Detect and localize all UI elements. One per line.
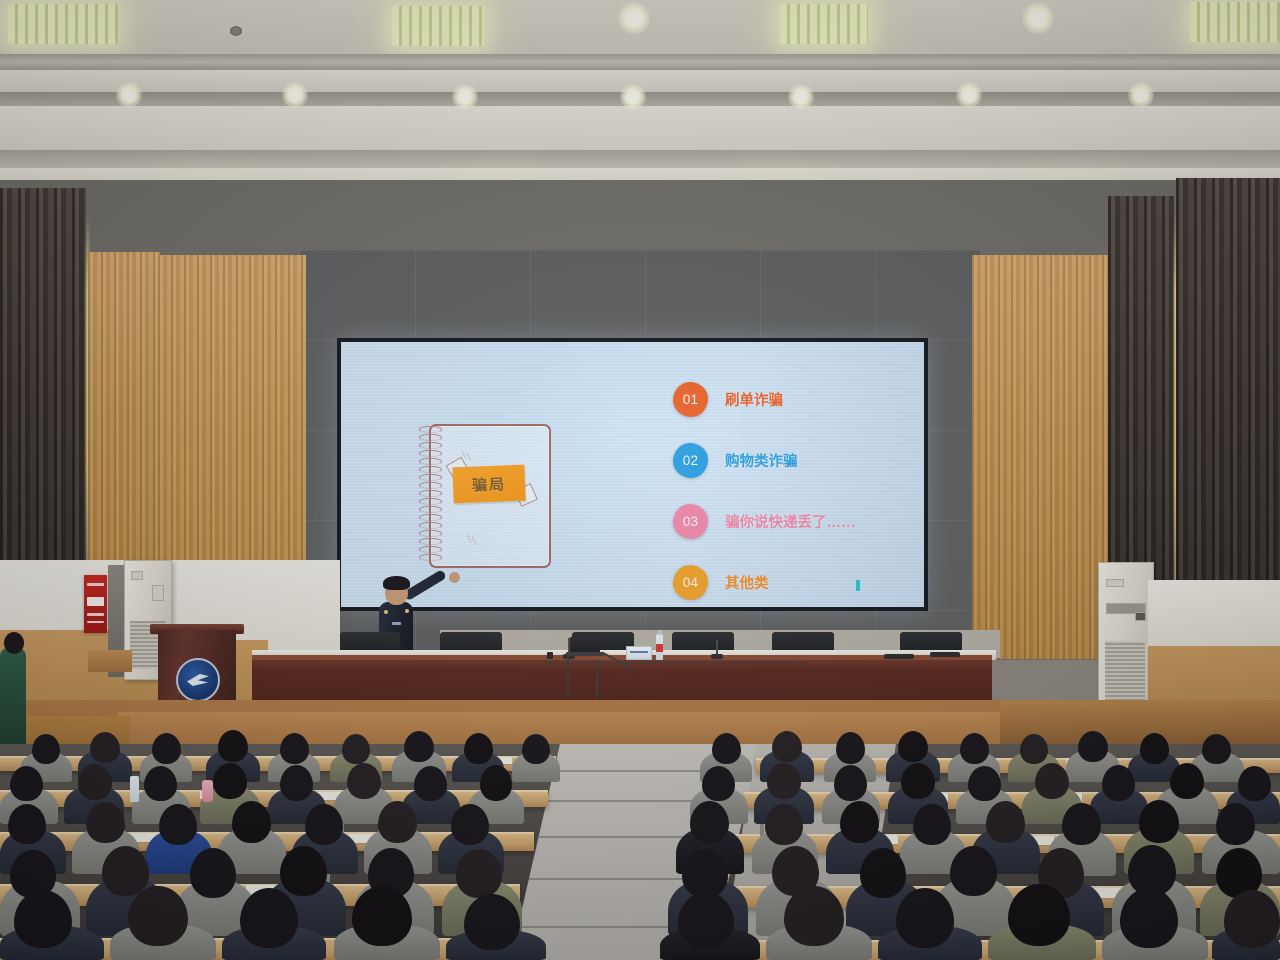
slide-item-label: 刷单诈骗 [725,389,783,410]
projection-screen: 骗局 01 刷单诈骗 02 购物类诈骗 03 骗你 [341,342,924,607]
ceiling-downlight [956,82,982,108]
audience-head [968,766,1001,801]
audience-head [128,886,188,946]
slide-item-badge: 03 [673,504,708,539]
audience-head [451,804,489,845]
audience-head [767,763,801,799]
audience-head [682,849,728,898]
audience-head [347,763,381,799]
slide-item: 02 购物类诈骗 [673,437,903,484]
audience-head [960,733,989,764]
student-water-bottle [202,780,213,802]
audience-head [213,763,247,799]
audience-head [32,734,60,764]
blackout-curtain-left [0,188,86,594]
audience-head [404,731,434,762]
slide-item-label: 骗你说快递丢了…… [725,511,856,532]
slide-item-badge: 02 [673,443,708,478]
audience-head [896,888,954,948]
notebook-illustration: 骗局 [419,424,547,564]
floor-cable [884,654,914,659]
ceiling-panel-light [1190,2,1280,42]
audience-head [840,801,879,843]
audience-head [414,766,447,801]
audience-head [913,804,951,845]
ceiling-panel-light [780,4,868,44]
slide-item: 04 其他类 [673,559,903,606]
name-plate [626,646,652,660]
audience-head [1020,734,1048,764]
water-bottle [656,634,663,660]
laptop-screen [570,637,600,653]
audience-head [784,886,844,946]
right-wall-upper [1148,580,1280,652]
school-emblem [176,658,220,702]
audience-head [1062,803,1101,845]
presenter-hair [383,576,410,590]
audience-head [1170,763,1204,799]
audience-head [190,848,236,898]
audience-head [690,801,729,843]
audience-head [305,804,343,845]
audience-head [950,846,997,896]
audience-head [280,733,309,764]
audience-head [1102,765,1135,801]
ceiling-downlight [282,82,308,108]
blackout-curtain-right-inner [1108,196,1174,614]
ceiling-downlight [116,82,142,108]
audience-head [456,849,502,898]
audience-head [834,765,867,801]
audience-head [102,846,149,896]
projection-screen-frame: 骗局 01 刷单诈骗 02 购物类诈骗 03 骗你 [337,338,928,611]
slide-item-list: 01 刷单诈骗 02 购物类诈骗 03 骗你说快递丢了…… 04 其他类 [673,376,903,607]
audience-head [1120,888,1178,948]
audience-head [159,804,197,845]
audience-head [280,846,327,896]
audience-head [464,894,520,950]
audience-head [765,804,803,845]
audience-head [232,801,271,843]
slide-item-label: 购物类诈骗 [725,450,798,471]
audience-head [678,892,734,948]
audience-head [152,733,181,764]
slide-item: 03 骗你说快递丢了…… [673,498,903,545]
standing-attendee [0,648,26,744]
audience-head [378,801,417,843]
notebook-sticky-note: 骗局 [452,465,525,504]
audience-head [14,890,72,948]
ceiling-downlight [620,84,646,110]
audience-head [901,763,935,799]
audience-head [1238,766,1271,801]
ceiling-downlight [1022,2,1054,34]
audience-head [1139,800,1179,843]
audience-head [78,764,112,800]
slide-item-badge: 01 [673,382,708,417]
audience-head [1202,734,1231,764]
stage-curtain-right [972,255,1112,659]
wooden-step-block [88,650,132,672]
audience-head [702,766,735,801]
audience-head [86,802,125,843]
slide-item-badge: 04 [673,565,708,600]
audience-head [1140,733,1169,764]
audience-head [480,765,512,801]
audience-head [8,804,46,844]
ceiling-beam [0,150,1280,170]
audience-head [898,731,928,762]
smoke-detector-icon [230,26,242,36]
audience-head [712,733,741,764]
ceiling-panel-light [8,4,118,44]
notebook-spiral-binding [419,426,443,562]
red-wall-poster [84,575,107,633]
audience-head [772,731,802,762]
ceiling-downlight [618,2,650,34]
blackout-curtain-right [1176,178,1280,624]
microphone-base [711,654,723,659]
audience-head [280,765,313,801]
audience-head [352,886,412,946]
audience-head [342,734,370,764]
audience-head [986,801,1025,843]
audience-head [1008,884,1070,946]
notebook-label: 骗局 [472,473,507,495]
audience-head [10,766,43,801]
stage-curtain-left-outer [88,252,160,604]
slide-item: 01 刷单诈骗 [673,376,903,423]
microphone-base [547,652,553,659]
audience-head [218,730,248,762]
emblem-bird-icon [187,674,209,686]
ceiling-downlight [788,84,814,110]
ceiling-panel-light [392,6,484,46]
screen-cyan-marker [856,580,860,591]
audience-head [90,732,120,763]
audience-head [464,733,493,764]
audience-head [1035,763,1069,799]
cable [545,662,805,664]
audience-head [1216,803,1255,845]
ceiling-downlight [1128,82,1154,108]
auditorium-photo: 骗局 01 刷单诈骗 02 购物类诈骗 03 骗你 [0,0,1280,960]
student-water-bottle [130,776,139,802]
right-ac-unit [1098,562,1154,714]
audience-head [144,766,177,801]
audience-head [240,888,298,948]
slide-item-label: 其他类 [725,572,769,593]
audience-head [860,848,906,898]
standing-attendee-head [4,632,24,654]
laptop-base [566,652,604,656]
floor-cable [930,652,960,657]
audience-head [1224,890,1280,948]
ceiling-downlight [452,84,478,110]
audience-head [1078,731,1108,762]
audience-head [522,734,550,764]
audience-head [836,732,865,764]
ceiling-coffer-middle [0,106,1280,152]
